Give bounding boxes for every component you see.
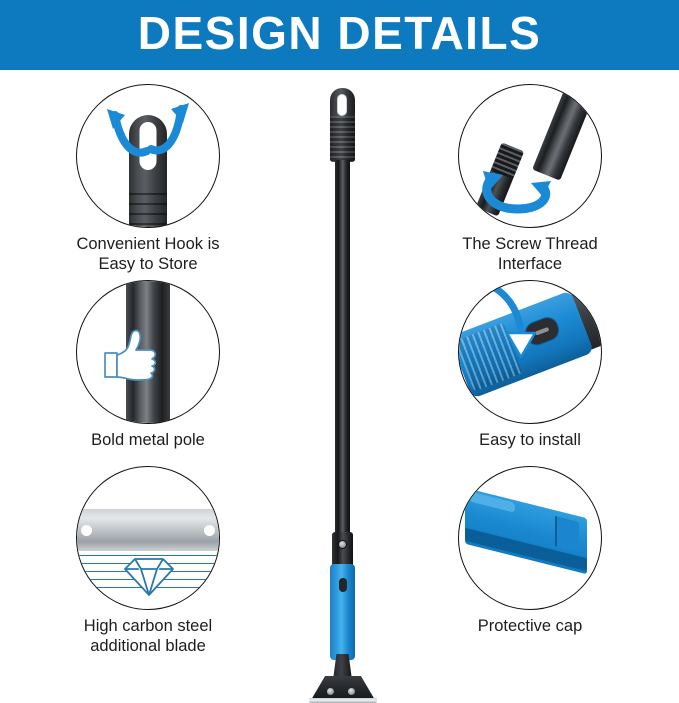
product-collar-screw-icon [338,540,347,549]
product-head-screw-right [348,688,355,695]
product-release-button [339,578,347,592]
protective-cap-icon [458,466,602,610]
screw-thread-circle [458,84,602,228]
protective-cap-circle [458,466,602,610]
cap-tab-shape [555,516,579,552]
thumbs-up-icon [77,281,220,424]
header-banner: DESIGN DETAILS [0,0,679,70]
twist-arrow-icon [459,85,602,228]
feature-caption: The Screw Thread Interface [430,234,630,274]
product-metal-pole [335,160,350,538]
metal-pole-circle [76,280,220,424]
steel-blade-circle [76,466,220,610]
feature-protective-cap: Protective cap [430,466,630,636]
feature-bold-metal-pole: Bold metal pole [48,280,248,450]
steel-blade-icon [76,466,220,610]
product-collar [332,532,353,568]
floor-scraper-product-image [300,88,386,658]
feature-caption: Easy to install [430,430,630,450]
product-head-screw-left [327,688,334,695]
feature-convenient-hook: Convenient Hook isEasy to Store [48,84,248,274]
page-title: DESIGN DETAILS [0,0,679,70]
feature-caption: High carbon steeladditional blade [48,616,248,656]
feature-caption: Bold metal pole [48,430,248,450]
product-blade-edge [309,698,377,703]
hook-detail-circle [76,84,220,228]
feature-easy-to-install: Easy to install [430,280,630,450]
install-circle [458,280,602,424]
screw-thread-icon [458,84,602,228]
hook-detail-icon [76,84,220,228]
rotation-arrows-icon [77,85,220,228]
product-hook-eye [337,94,347,116]
feature-caption: Protective cap [430,616,630,636]
diamond-icon [77,467,220,610]
install-button-icon [458,280,602,424]
product-handle-grip-texture [330,116,355,162]
metal-pole-icon [76,280,220,424]
product-scraper-head [311,676,375,700]
feature-screw-thread-interface: The Screw Thread Interface [430,84,630,274]
press-down-arrow-icon [459,281,602,424]
feature-caption: Convenient Hook isEasy to Store [48,234,248,274]
feature-carbon-steel-blade: High carbon steeladditional blade [48,466,248,656]
